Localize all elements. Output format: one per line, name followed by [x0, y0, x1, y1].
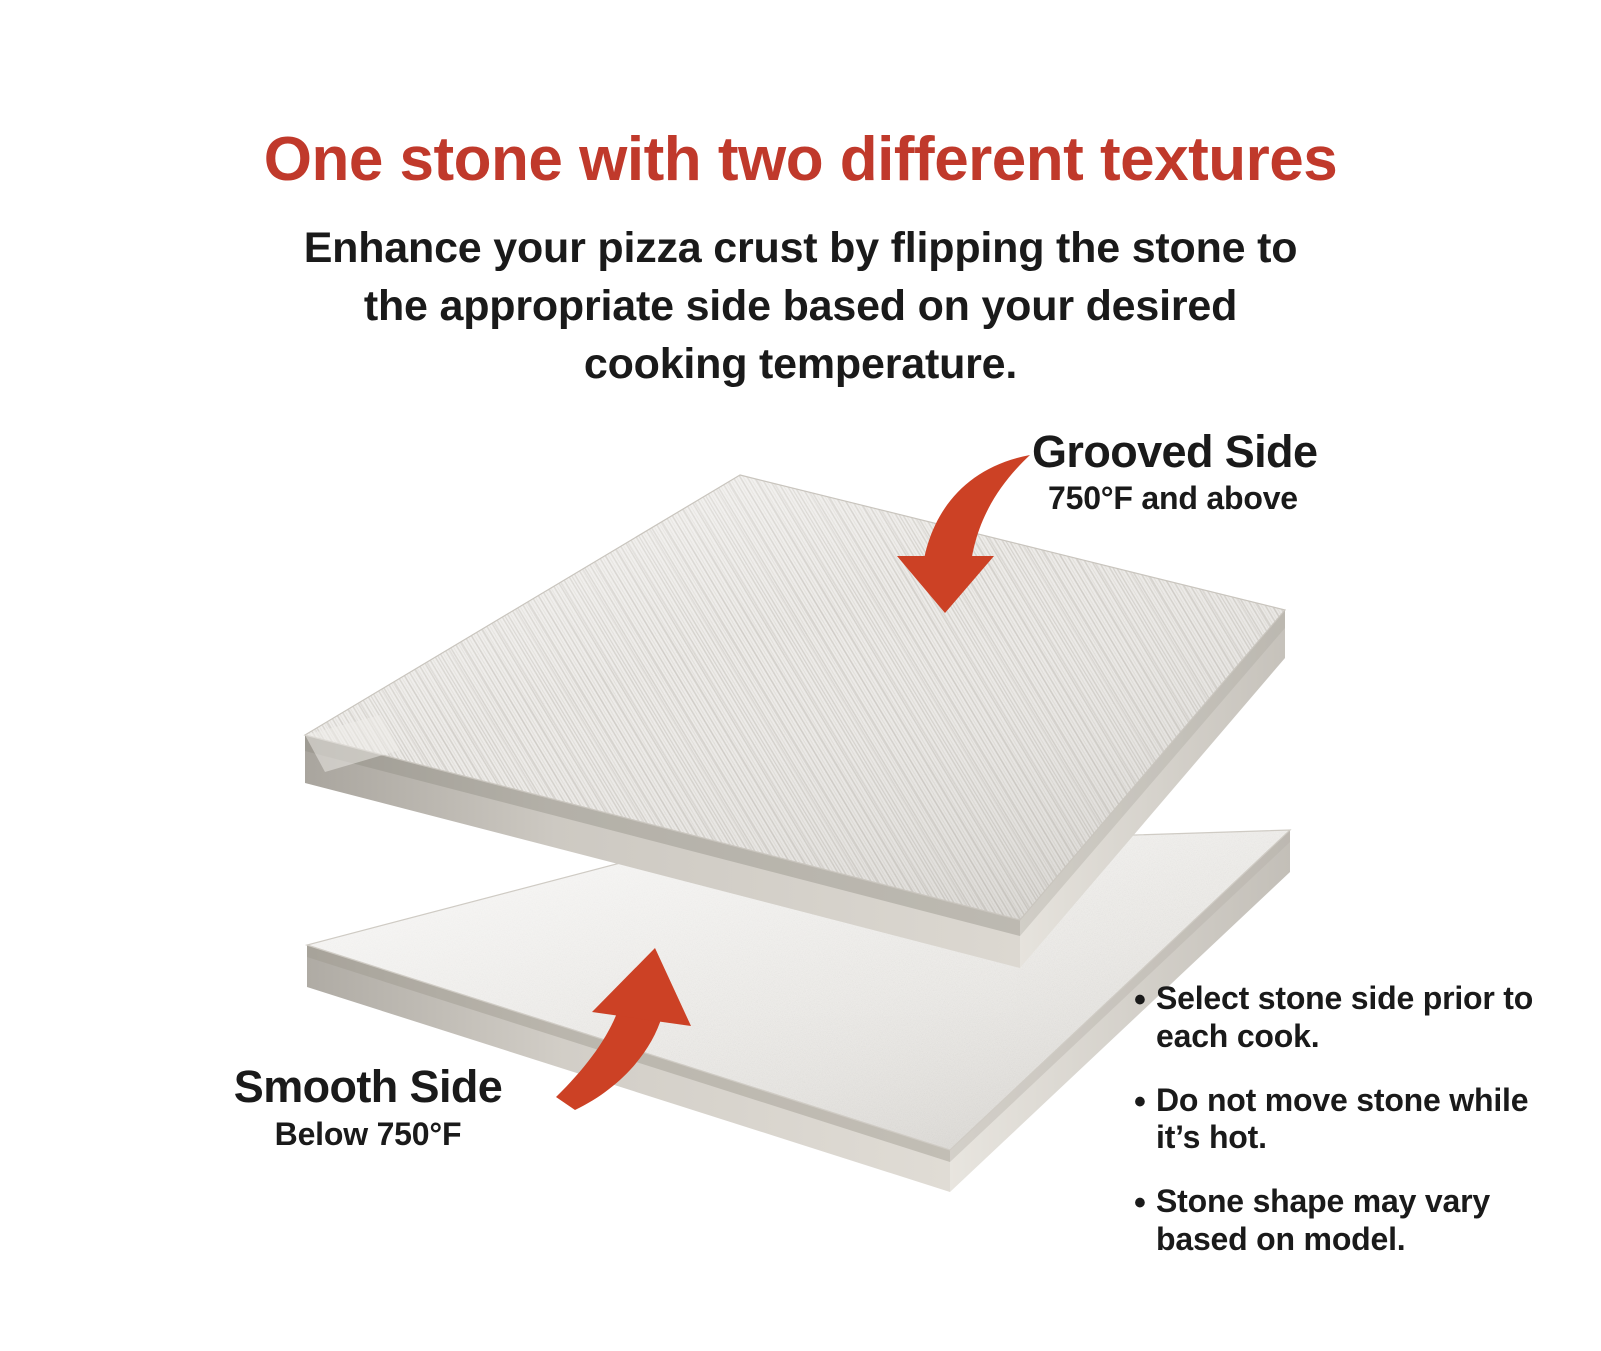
callout-smooth-side: Smooth Side Below 750°F — [208, 1063, 528, 1153]
list-item: • Select stone side prior to each cook. — [1134, 980, 1554, 1056]
note-text: Do not move stone while it’s hot. — [1156, 1082, 1554, 1158]
note-text: Stone shape may vary based on model. — [1156, 1183, 1554, 1259]
grooved-side-temperature: 750°F and above — [1032, 475, 1317, 517]
header-block: One stone with two different textures En… — [0, 0, 1601, 393]
bullet-icon: • — [1134, 1082, 1156, 1122]
list-item: • Stone shape may vary based on model. — [1134, 1183, 1554, 1259]
list-item: • Do not move stone while it’s hot. — [1134, 1082, 1554, 1158]
infographic-page: One stone with two different textures En… — [0, 0, 1601, 1351]
bullet-icon: • — [1134, 1183, 1156, 1223]
smooth-side-temperature: Below 750°F — [208, 1110, 528, 1153]
callout-grooved-side: Grooved Side 750°F and above — [1032, 428, 1317, 517]
smooth-side-title: Smooth Side — [208, 1063, 528, 1110]
usage-notes-list: • Select stone side prior to each cook. … — [1134, 980, 1554, 1259]
page-title: One stone with two different textures — [0, 0, 1601, 191]
page-subtitle: Enhance your pizza crust by flipping the… — [286, 191, 1316, 393]
note-text: Select stone side prior to each cook. — [1156, 980, 1554, 1056]
bullet-icon: • — [1134, 980, 1156, 1020]
grooved-side-title: Grooved Side — [1032, 428, 1317, 475]
